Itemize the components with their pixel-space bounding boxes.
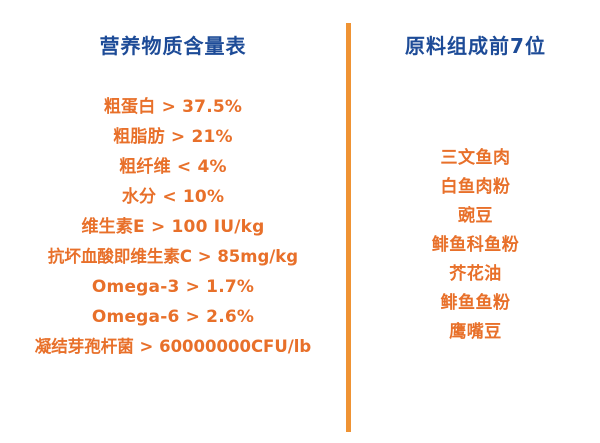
nutrition-item-vitamin-e: 维生素E > 100 IU/kg [0,212,346,242]
ingredients-panel-title: 原料组成前7位 [351,36,600,56]
ingredient-item-salmon: 三文鱼肉 [351,144,600,173]
nutrition-panel: 营养物质含量表 粗蛋白 > 37.5% 粗脂肪 > 21% 粗纤维 < 4% 水… [0,0,346,443]
ingredient-item-herring-meal: 鲱鱼鱼粉 [351,289,600,318]
ingredient-list: 三文鱼肉 白鱼肉粉 豌豆 鲱鱼科鱼粉 芥花油 鲱鱼鱼粉 鹰嘴豆 [351,144,600,347]
nutrition-panel-title: 营养物质含量表 [0,36,346,56]
nutrition-item-omega-6: Omega-6 > 2.6% [0,302,346,332]
nutrition-list: 粗蛋白 > 37.5% 粗脂肪 > 21% 粗纤维 < 4% 水分 < 10% … [0,92,346,362]
nutrition-item-omega-3: Omega-3 > 1.7% [0,272,346,302]
nutrition-info-graphic: 营养物质含量表 粗蛋白 > 37.5% 粗脂肪 > 21% 粗纤维 < 4% 水… [0,0,600,443]
nutrition-item-crude-fat: 粗脂肪 > 21% [0,122,346,152]
ingredient-item-peas: 豌豆 [351,202,600,231]
ingredient-item-canola-oil: 芥花油 [351,260,600,289]
ingredient-item-herring-family-meal: 鲱鱼科鱼粉 [351,231,600,260]
ingredients-panel: 原料组成前7位 三文鱼肉 白鱼肉粉 豌豆 鲱鱼科鱼粉 芥花油 鲱鱼鱼粉 鹰嘴豆 [351,0,600,443]
nutrition-item-vitamin-c: 抗坏血酸即维生素C > 85mg/kg [0,242,346,272]
ingredient-item-whitefish-meal: 白鱼肉粉 [351,173,600,202]
nutrition-item-moisture: 水分 < 10% [0,182,346,212]
nutrition-item-bacillus-coagulans: 凝结芽孢杆菌 > 60000000CFU/lb [0,332,346,362]
nutrition-item-crude-protein: 粗蛋白 > 37.5% [0,92,346,122]
nutrition-item-crude-fiber: 粗纤维 < 4% [0,152,346,182]
ingredient-item-chickpeas: 鹰嘴豆 [351,318,600,347]
